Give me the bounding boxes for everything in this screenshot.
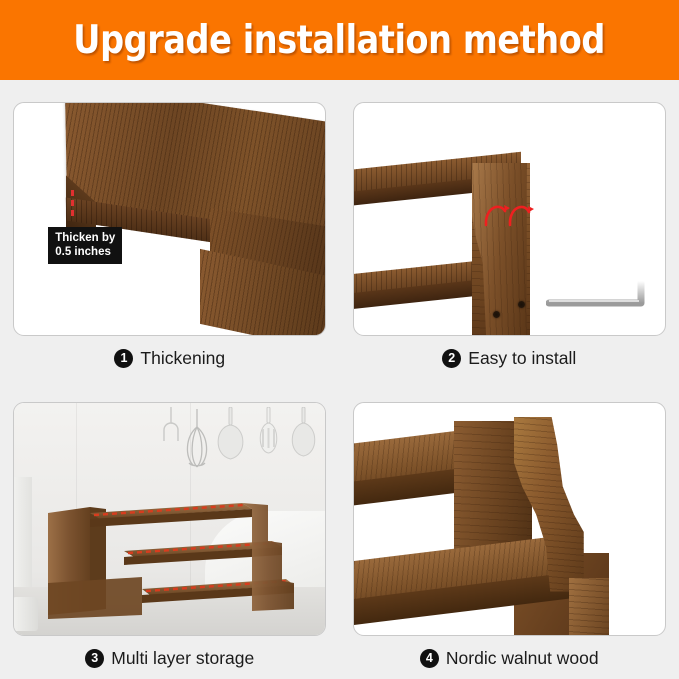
bullet-number-4-icon: 4 xyxy=(420,649,439,668)
allen-key-icon xyxy=(546,278,656,326)
screw-hole-lower-right-icon xyxy=(518,301,525,308)
hanging-utensils-icon xyxy=(159,407,319,479)
thickness-callout-label: Thicken by 0.5 inches xyxy=(48,227,122,264)
thickness-measure-line xyxy=(71,190,74,216)
product-photo-easy-install xyxy=(353,102,666,336)
product-photo-walnut-wood xyxy=(353,402,666,636)
caption-3: 3 Multi layer storage xyxy=(85,648,254,669)
bullet-number-2-icon: 2 xyxy=(442,349,461,368)
screw-hole-lower-left-icon xyxy=(493,311,500,318)
caption-4: 4 Nordic walnut wood xyxy=(420,648,599,669)
caption-1: 1 Thickening xyxy=(114,348,225,369)
feature-cell-3: 3 Multi layer storage xyxy=(0,380,340,679)
header-banner: Upgrade installation method xyxy=(0,0,679,80)
infographic-page: Upgrade installation method Thicken by 0… xyxy=(0,0,679,679)
caption-3-label: Multi layer storage xyxy=(111,648,254,669)
caption-1-label: Thickening xyxy=(140,348,225,369)
side-leg xyxy=(569,578,609,636)
feature-cell-2: 2 Easy to install xyxy=(340,80,679,380)
page-title: Upgrade installation method xyxy=(74,18,606,63)
product-photo-multi-layer-storage xyxy=(13,402,326,636)
caption-2-label: Easy to install xyxy=(468,348,576,369)
bullet-number-1-icon: 1 xyxy=(114,349,133,368)
caption-4-label: Nordic walnut wood xyxy=(446,648,599,669)
install-arrows-icon xyxy=(482,199,534,227)
feature-grid: Thicken by 0.5 inches 1 Thickening xyxy=(0,80,679,679)
caption-2: 2 Easy to install xyxy=(442,348,576,369)
product-photo-thickening: Thicken by 0.5 inches xyxy=(13,102,326,336)
floor-bin xyxy=(13,597,38,631)
feature-cell-1: Thicken by 0.5 inches 1 Thickening xyxy=(0,80,340,380)
side-cabinet xyxy=(13,477,32,587)
feature-cell-4: 4 Nordic walnut wood xyxy=(340,380,679,679)
bullet-number-3-icon: 3 xyxy=(85,649,104,668)
three-tier-shelf xyxy=(46,491,296,619)
